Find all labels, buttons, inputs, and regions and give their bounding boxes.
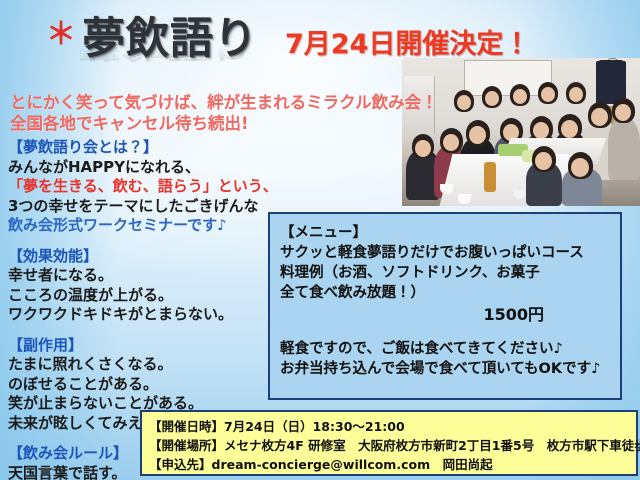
menu-note: 軽食ですので、ご飯は食べてきてください♪ [280, 339, 610, 359]
photo-person [513, 89, 527, 104]
section-line: 幸せ者になる。 [8, 266, 270, 286]
event-contact-row: 【申込先】dream-concierge@willcom.com 岡田尚起 [149, 455, 630, 474]
event-datetime-label: 【開催日時】 [149, 419, 224, 434]
photo-person [469, 126, 486, 144]
section-line: こころの温度が上がる。 [8, 286, 270, 306]
subtitle-block: とにかく笑って気づけば、絆が生まれるミラクル飲み会！ 全国各地でキャンセル待ち続… [10, 92, 410, 134]
photo-person [443, 134, 459, 151]
subtitle-line: 全国各地でキャンセル待ち続出! [10, 113, 410, 134]
event-place-label: 【開催場所】 [149, 438, 224, 453]
section-line: ワクワクドキドキがとまらない。 [8, 305, 270, 325]
section-line: みんながHAPPYになれる、 [8, 158, 270, 178]
group-photo [402, 58, 640, 206]
section-heading: 【副作用】 [8, 336, 270, 356]
photo-person [591, 108, 608, 126]
menu-box: 【メニュー】 サクッと軽食夢語りだけでお腹いっぱいコース 料理例（お酒、ソフトド… [268, 212, 622, 400]
section-line: 「夢を生きる、飲む、語らう」という、 [8, 177, 270, 197]
section-about: 【夢飲語り会とは？】 みんながHAPPYになれる、 「夢を生きる、飲む、語らう」… [8, 138, 270, 236]
photo-bottle [484, 162, 496, 192]
photo-cup [514, 190, 525, 199]
event-datetime-value: 7月24日（日）18:30～21:00 [224, 419, 405, 434]
menu-line: サクッと軽食夢語りだけでお腹いっぱいコース [280, 243, 610, 263]
photo-person [561, 120, 578, 138]
photo-person [485, 91, 499, 106]
section-line: たまに照れくさくなる。 [8, 355, 270, 375]
event-place-value: メセナ枚方4F 研修室 大阪府枚方市新町2丁目1番5号 枚方市駅下車徒歩5分 [224, 438, 640, 453]
event-place-row: 【開催場所】メセナ枚方4F 研修室 大阪府枚方市新町2丁目1番5号 枚方市駅下車… [149, 436, 630, 455]
menu-line: 料理例（お酒、ソフトドリンク、お菓子 [280, 263, 610, 283]
flyer-title: ＊ 夢飲語り [46, 16, 258, 76]
photo-person [569, 87, 583, 102]
flyer-canvas: 夢飲語り ＊ 夢飲語り 7月24日開催決定！ とにかく笑って気づけば、絆が生まれ… [0, 0, 640, 480]
photo-person [415, 140, 431, 157]
section-line: のぼせることがある。 [8, 375, 270, 395]
photo-person [535, 152, 552, 170]
subtitle-line: とにかく笑って気づけば、絆が生まれるミラクル飲み会！ [10, 92, 410, 113]
date-headline: 7月24日開催決定！ [285, 30, 530, 60]
photo-person [571, 158, 589, 177]
menu-spacer [280, 327, 610, 339]
menu-heading: 【メニュー】 [280, 223, 610, 243]
section-effects: 【効果効能】 幸せ者になる。 こころの温度が上がる。 ワクワクドキドキがとまらな… [8, 247, 270, 325]
event-contact-label: 【申込先】 [149, 457, 212, 472]
menu-line: 全て食べ飲み放題！） [280, 283, 610, 303]
event-datetime-row: 【開催日時】7月24日（日）18:30～21:00 [149, 417, 630, 436]
title-text: 夢飲語り [82, 16, 258, 62]
event-contact-value[interactable]: dream-concierge@willcom.com 岡田尚起 [212, 457, 493, 472]
menu-note: お弁当持ち込んで会場で食べて頂いてもOKです♪ [280, 359, 610, 379]
section-line: 飲み会形式ワークセミナーです♪ [8, 216, 270, 236]
photo-person [457, 95, 471, 110]
photo-person [541, 87, 555, 102]
asterisk-icon: ＊ [46, 20, 76, 50]
photo-person [608, 118, 640, 180]
menu-price: 1500円 [280, 303, 610, 327]
section-line: 3つの幸せをテーマにしたごきげんな [8, 197, 270, 217]
section-heading: 【夢飲語り会とは？】 [8, 138, 270, 158]
photo-person [615, 104, 631, 121]
photo-person [533, 122, 549, 139]
section-heading: 【効果効能】 [8, 247, 270, 267]
event-details-box: 【開催日時】7月24日（日）18:30～21:00 【開催場所】メセナ枚方4F … [140, 410, 638, 476]
